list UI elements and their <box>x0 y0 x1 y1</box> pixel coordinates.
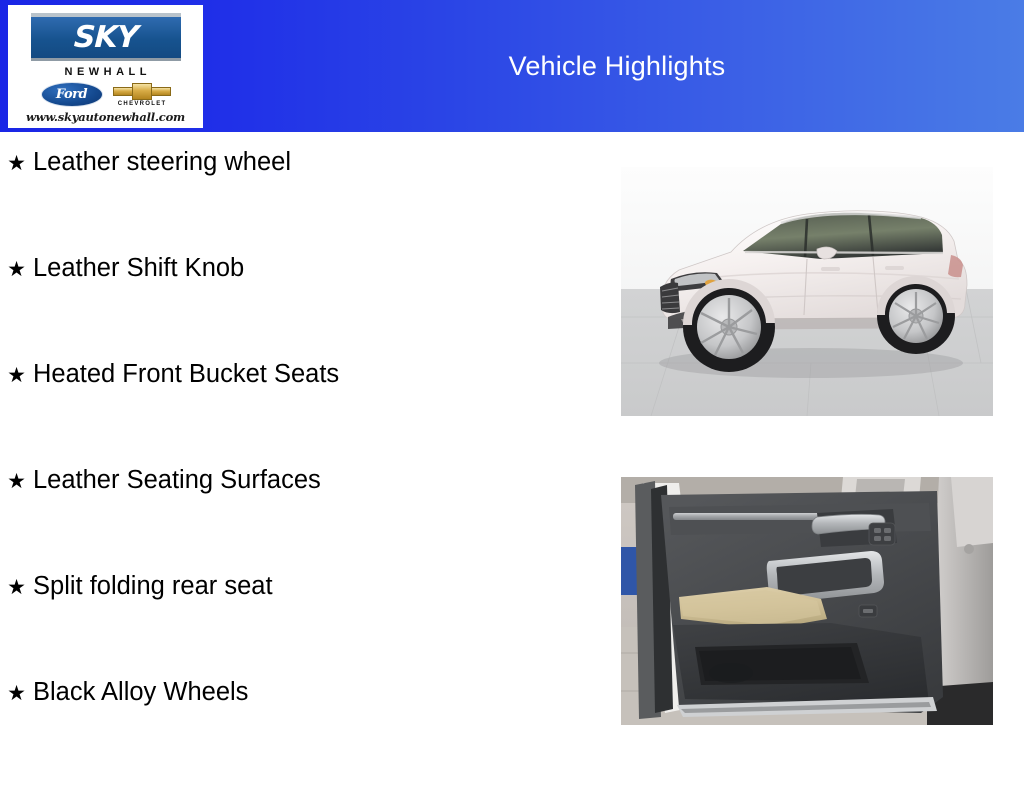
ford-logo-text: Ford <box>56 87 87 102</box>
star-bullet-icon: ★ <box>0 259 33 280</box>
dealer-location-text: NEWHALL <box>60 66 151 78</box>
star-bullet-icon: ★ <box>0 577 33 598</box>
star-bullet-icon: ★ <box>0 471 33 492</box>
vehicle-interior-door-photo[interactable] <box>621 477 993 725</box>
list-item: ★ Split folding rear seat <box>0 574 600 680</box>
chevrolet-logo-text: CHEVROLET <box>117 101 167 107</box>
chevrolet-bowtie-icon <box>113 83 171 100</box>
list-item: ★ Leather steering wheel <box>0 150 600 256</box>
ford-logo-icon: Ford <box>41 82 103 107</box>
star-bullet-icon: ★ <box>0 683 33 704</box>
highlight-label: Leather Seating Surfaces <box>33 468 321 494</box>
vehicle-exterior-photo[interactable] <box>621 167 993 416</box>
highlight-label: Heated Front Bucket Seats <box>33 362 339 388</box>
list-item: ★ Black Alloy Wheels <box>0 680 600 786</box>
highlight-label: Black Alloy Wheels <box>33 680 248 706</box>
star-bullet-icon: ★ <box>0 153 33 174</box>
highlight-label: Split folding rear seat <box>33 574 273 600</box>
franchise-logo-row: Ford CHEVROLET <box>8 82 203 107</box>
page-title: Vehicle Highlights <box>210 0 1024 132</box>
dealer-logo-inner: SKY NEWHALL Ford CHEVROLET www.skyautone… <box>8 5 203 128</box>
list-item: ★ Leather Shift Knob <box>0 256 600 362</box>
sky-brand-text: SKY <box>73 23 138 53</box>
exterior-photo-graphic <box>621 167 993 416</box>
highlight-label: Leather steering wheel <box>33 150 291 176</box>
list-item: ★ Leather Seating Surfaces <box>0 468 600 574</box>
dealer-logo[interactable]: SKY NEWHALL Ford CHEVROLET www.skyautone… <box>8 5 203 128</box>
list-item: ★ Heated Front Bucket Seats <box>0 362 600 468</box>
sky-badge-icon: SKY <box>31 13 181 61</box>
vehicle-highlights-list: ★ Leather steering wheel ★ Leather Shift… <box>0 150 600 786</box>
highlight-label: Leather Shift Knob <box>33 256 244 282</box>
star-bullet-icon: ★ <box>0 365 33 386</box>
dealer-website-text[interactable]: www.skyautonewhall.com <box>26 110 185 124</box>
chevrolet-logo: CHEVROLET <box>113 83 171 107</box>
interior-photo-graphic <box>621 477 993 725</box>
